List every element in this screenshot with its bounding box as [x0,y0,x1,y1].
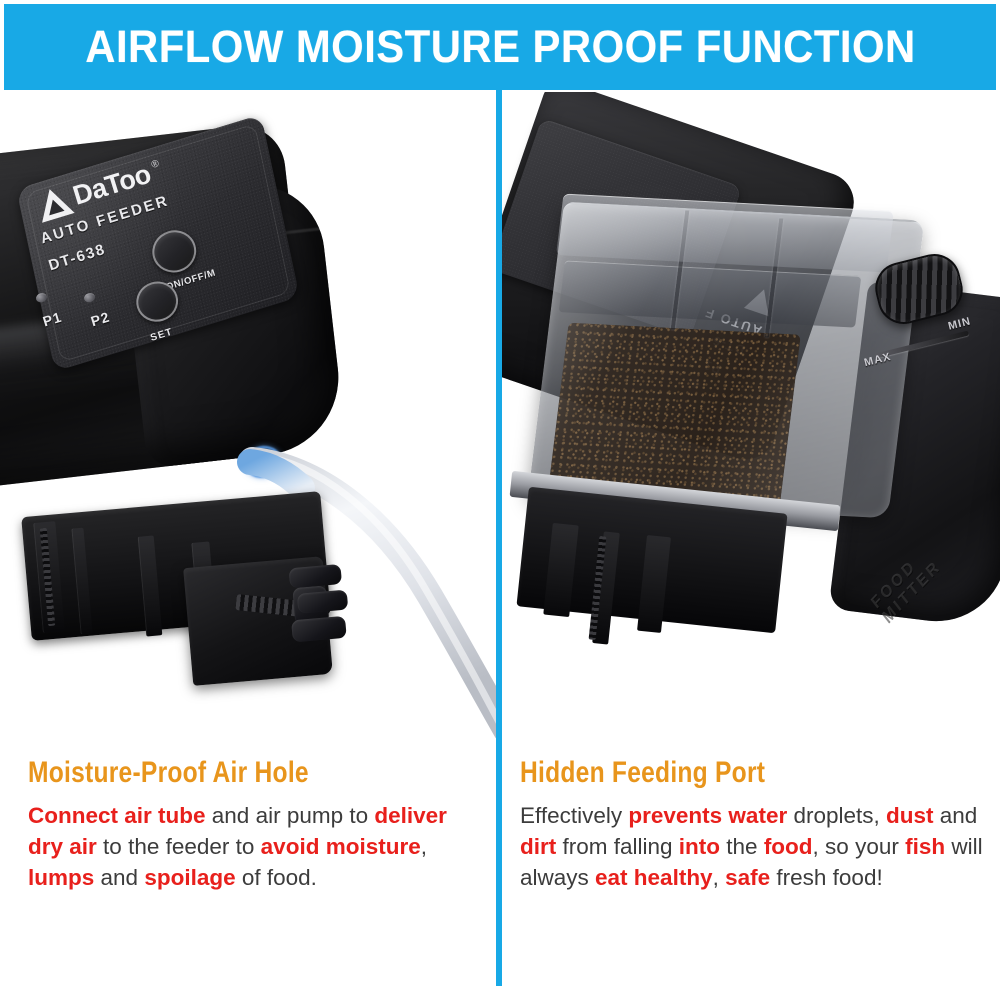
caption-body: Effectively prevents water droplets, dus… [520,800,986,893]
caption-left: Moisture-Proof Air Hole Connect air tube… [28,756,480,893]
panel-left: DaToo ® AUTO FEEDER DT-638 P1 P2 ON/OFF/… [0,92,496,740]
caption-body: Connect air tube and air pump to deliver… [28,800,480,893]
panel-right: P1 DT-6 AUTO F MAX MIN FOOD MITTER [502,92,1000,740]
product-photo-air-hole: DaToo ® AUTO FEEDER DT-638 P1 P2 ON/OFF/… [0,92,496,740]
thumbscrew-knob[interactable] [284,561,353,652]
thumbscrew-wing [297,590,349,614]
caption-heading: Hidden Feeding Port [520,756,902,790]
thumbscrew-wing [291,616,347,643]
caption-right: Hidden Feeding Port Effectively prevents… [520,756,986,893]
caption-heading: Moisture-Proof Air Hole [28,756,399,790]
banner-title: AIRFLOW MOISTURE PROOF FUNCTION [85,21,915,73]
thumbscrew-wing [289,564,343,588]
product-photo-feeding-port: P1 DT-6 AUTO F MAX MIN FOOD MITTER [502,92,1000,740]
header-banner: AIRFLOW MOISTURE PROOF FUNCTION [4,4,996,90]
